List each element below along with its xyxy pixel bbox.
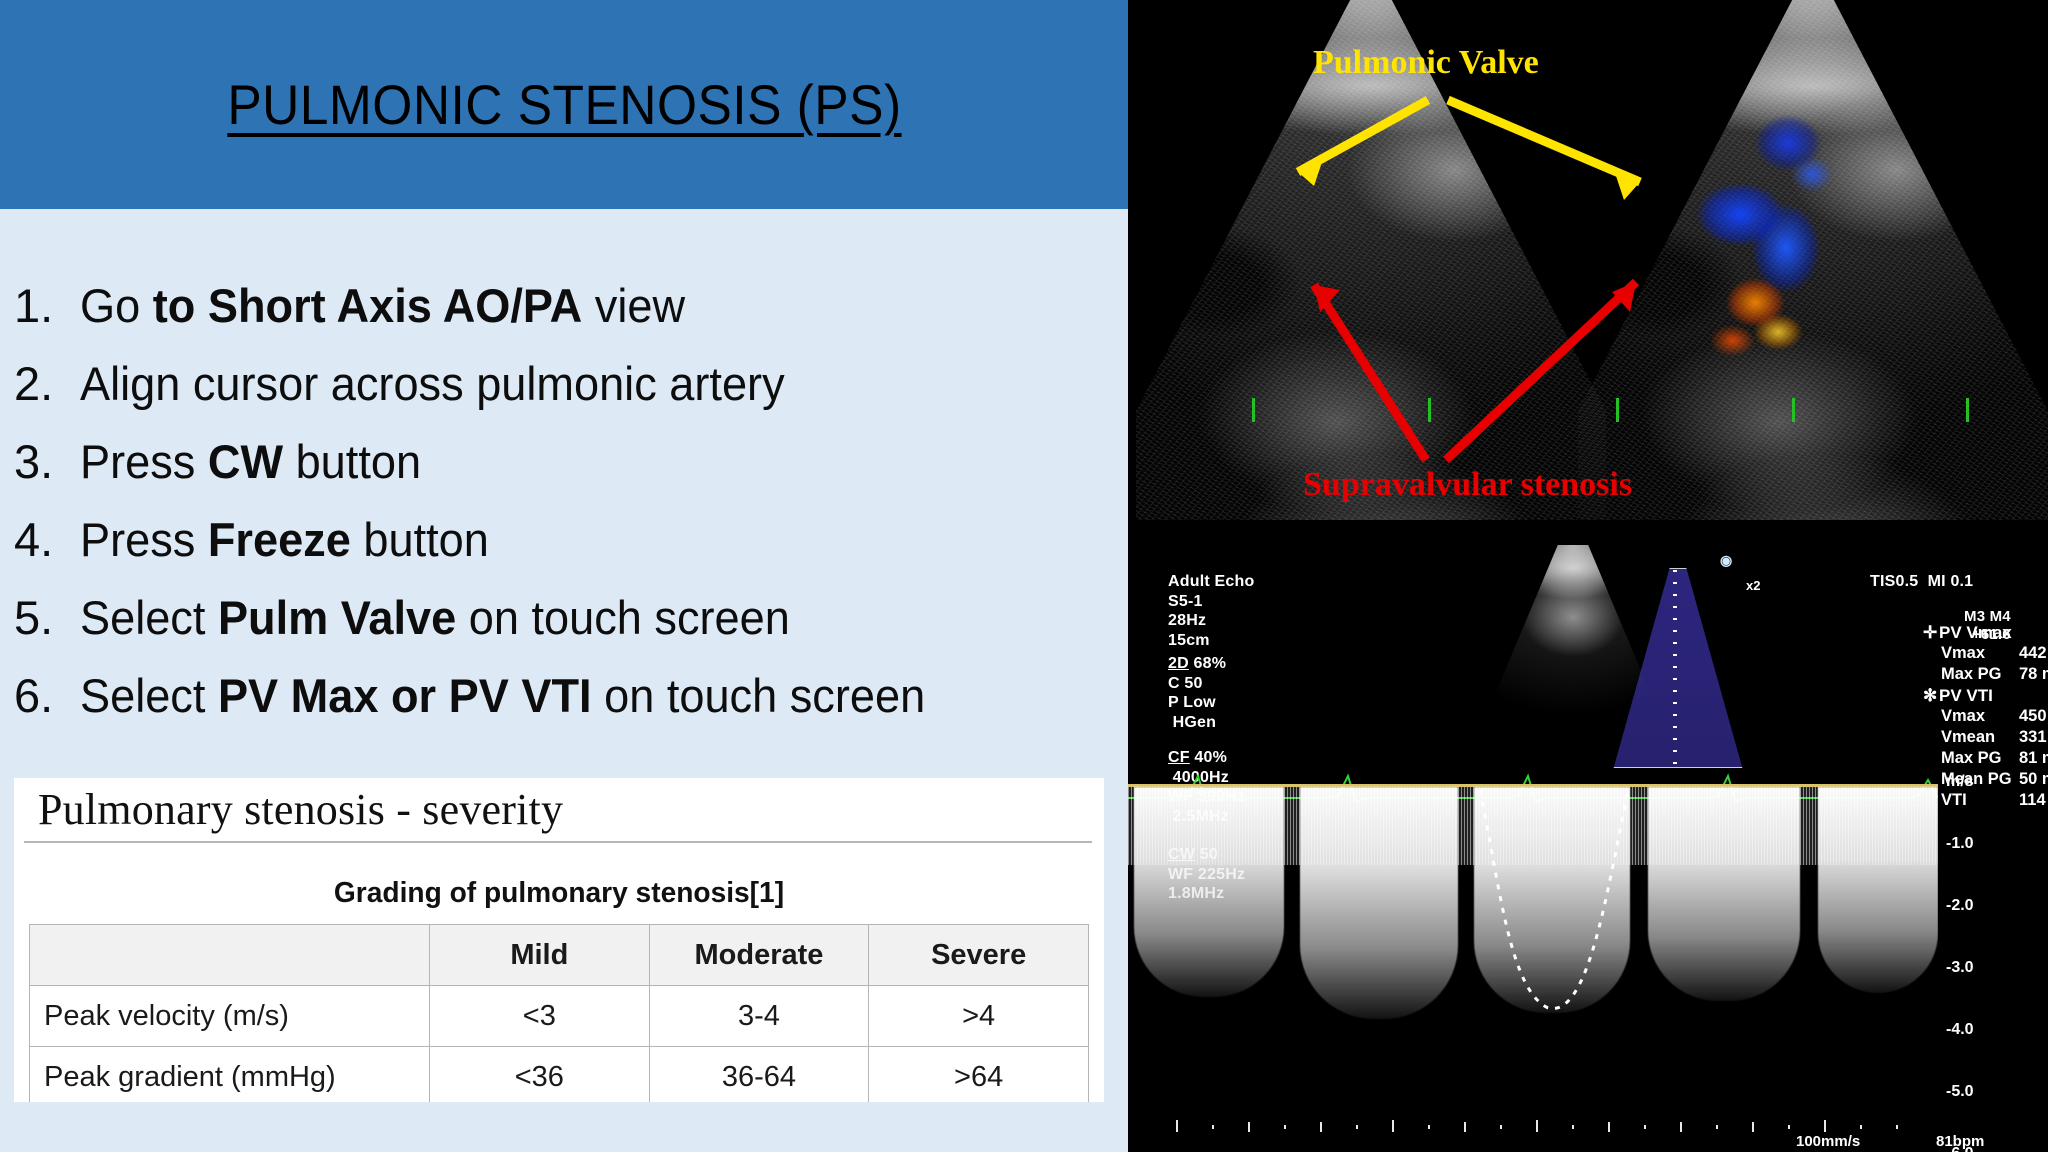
title-banner: PULMONIC STENOSIS (PS) [0,0,1128,209]
settings-2d-label: 2D [1168,655,1189,672]
list-item: 5. Select Pulm Valve on touch screen [14,594,1114,641]
cell-mild: <36 [430,1047,650,1103]
step-number: 6. [14,672,80,719]
measurement-key: Max PG [1923,748,2019,769]
table-row: Peak velocity (m/s) <3 3-4 >4 [30,986,1089,1047]
ultrasound-panel: Pulmonic Valve Supravalvular stenosis Ad… [1128,0,2048,1152]
ultrasound-2d-image: Pulmonic Valve Supravalvular stenosis [1128,0,2048,560]
measurement-key: Max PG [1923,664,2019,685]
measurement-key: Vmean [1923,727,2019,748]
severity-heading: Pulmonary stenosis - severity [24,778,1092,843]
list-item: 1. Go to Short Axis AO/PA view [14,282,1114,329]
velocity-tick-label: -3.0 [1946,960,1974,976]
list-item: 2. Align cursor across pulmonic artery [14,360,1114,407]
measurement-row: Mean PG 50 mmHg [1923,769,2048,790]
table-header-row: Mild Moderate Severe [30,925,1089,986]
step-text: Align cursor across pulmonic artery [80,360,785,407]
caliper-multiplier-label: x2 [1746,578,1760,593]
sweep-speed-label: 100mm/s [1796,1133,1860,1150]
measurement-value: 331 cm/s [2019,727,2048,748]
measurement-value: 450 cm/s [2019,706,2048,727]
measurement-row: Vmax 450 cm/s [1923,706,2048,727]
measurement-group-title: ✛PV Vmax [1923,622,2048,643]
measurement-value: 114 cm [2019,790,2048,811]
measurement-value: 81 mmHg [2019,748,2048,769]
caliper-marker-icon: ✻ [1923,685,1939,706]
doppler-waveform-area [1128,768,1938,1088]
step-text: Select PV Max or PV VTI on touch screen [80,672,925,719]
column-header-blank [30,925,430,986]
measurement-value: 442 cm/s [2019,643,2048,664]
step-text: Press Freeze button [80,516,489,563]
step-number: 2. [14,360,80,407]
measurement-key: Vmax [1923,643,2019,664]
measurement-row: Max PG 81 mmHg [1923,748,2048,769]
list-item: 3. Press CW button [14,438,1114,485]
label-supravalvular-stenosis: Supravalvular stenosis [1303,466,1632,504]
label-pulmonic-valve: Pulmonic Valve [1313,44,1539,82]
step-text: Select Pulm Valve on touch screen [80,594,790,641]
velocity-tick-label: m/s [1946,774,1974,790]
list-item: 6. Select PV Max or PV VTI on touch scre… [14,672,1114,719]
vti-trace-overlay [1128,768,1938,1088]
velocity-tick-label: -2.0 [1946,898,1974,914]
step-number: 5. [14,594,80,641]
step-number: 1. [14,282,80,329]
row-label: Peak velocity (m/s) [30,986,430,1047]
column-header-moderate: Moderate [649,925,869,986]
row-label: Peak gradient (mmHg) [30,1047,430,1103]
severity-table-card: Pulmonary stenosis - severity Grading of… [14,778,1104,1102]
cell-severe: >64 [869,1047,1089,1103]
cell-severe: >4 [869,986,1089,1047]
cell-mild: <3 [430,986,650,1047]
machine-header-left: Adult Echo S5-1 28Hz 15cm [1168,572,1254,650]
velocity-tick-label: -4.0 [1946,1022,1974,1038]
ultrasound-status-bar: 100mm/s 81bpm [1128,1096,2048,1152]
settings-2d-block: 2D 68% C 50 P Low HGen [1168,654,1226,732]
velocity-tick-label: -1.0 [1946,836,1974,852]
ultrasound-spectral-display: Adult Echo S5-1 28Hz 15cm TIS0.5 MI 0.1 … [1128,560,2048,1152]
machine-header-right: TIS0.5 MI 0.1 [1870,572,1973,592]
caliper-icon: ◉ [1720,552,1732,569]
measurement-value: 78 mmHg [2019,664,2048,685]
time-axis-ticks [1173,1118,1933,1134]
step-text: Press CW button [80,438,421,485]
measurement-value: 50 mmHg [2019,769,2048,790]
grading-caption: Grading of pulmonary stenosis[1] [30,877,1087,910]
column-header-mild: Mild [430,925,650,986]
step-number: 3. [14,438,80,485]
cell-moderate: 3-4 [649,986,869,1047]
step-number: 4. [14,516,80,563]
measurement-row: Max PG 78 mmHg [1923,664,2048,685]
measurement-row: VTI 114 cm [1923,790,2048,811]
settings-cf-label: CF [1168,749,1190,766]
measurement-group-title: ✻PV VTI [1923,685,2048,706]
measurement-key: Vmax [1923,706,2019,727]
cw-beam-line [1673,570,1677,766]
measurement-row: Vmean 331 cm/s [1923,727,2048,748]
table-row: Peak gradient (mmHg) <36 36-64 >64 [30,1047,1089,1103]
slide-panel: PULMONIC STENOSIS (PS) 1. Go to Short Ax… [0,0,1128,1152]
measurement-row: Vmax 442 cm/s [1923,643,2048,664]
instruction-steps-list: 1. Go to Short Axis AO/PA view 2. Align … [14,282,1114,750]
caliper-marker-icon: ✛ [1923,622,1939,643]
list-item: 4. Press Freeze button [14,516,1114,563]
heart-rate-label: 81bpm [1936,1133,1984,1150]
column-header-severe: Severe [869,925,1089,986]
step-text: Go to Short Axis AO/PA view [80,282,685,329]
cell-moderate: 36-64 [649,1047,869,1103]
measurement-results-panel: ✛PV Vmax Vmax 442 cm/s Max PG 78 mmHg ✻P… [1923,622,2048,810]
page-title: PULMONIC STENOSIS (PS) [227,72,901,137]
grading-table: Mild Moderate Severe Peak velocity (m/s)… [29,924,1089,1102]
